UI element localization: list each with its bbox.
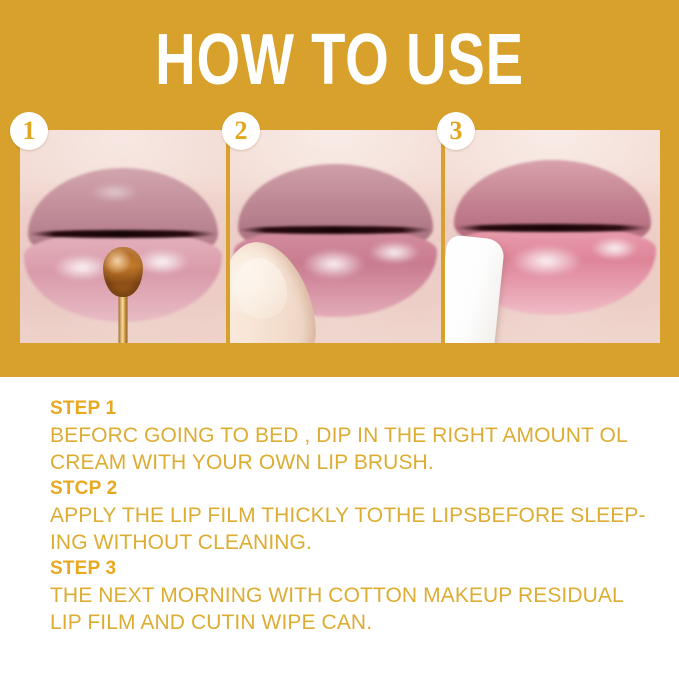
step-badge-3: 3 — [437, 112, 475, 150]
mouth-line-3 — [454, 224, 652, 232]
applicator-handle-icon — [119, 294, 128, 343]
lip-gloss-highlight-right-3 — [591, 237, 638, 260]
lip-gloss-highlight-left-3 — [510, 245, 583, 277]
step-body-3: THE NEXT MORNING WITH COTTON MAKEUP RESI… — [50, 582, 650, 636]
page-title: HOW TO USE — [75, 22, 605, 98]
lip-gloss-highlight-right-1 — [135, 249, 189, 275]
step-body-2: APPLY THE LIP FILM THICKLY TOTHE LIPSBEF… — [50, 502, 650, 556]
mouth-line-2 — [238, 226, 432, 234]
step-body-1: BEFORC GOING TO BED , DIP IN THE RIGHT A… — [50, 422, 650, 476]
instruction-list: STEP 1 BEFORC GOING TO BED , DIP IN THE … — [50, 396, 650, 636]
lip-gloss-highlight-right-2 — [369, 241, 420, 264]
lip-gloss-highlight-left-2 — [302, 249, 365, 279]
instruction-item-1: STEP 1 BEFORC GOING TO BED , DIP IN THE … — [50, 396, 650, 476]
instruction-image-strip — [20, 130, 660, 343]
header-banner: HOW TO USE — [0, 0, 679, 377]
step-heading-3: STEP 3 — [50, 556, 650, 582]
step-image-3 — [441, 130, 660, 343]
step-badge-1: 1 — [10, 112, 48, 150]
step-badge-2: 2 — [222, 112, 260, 150]
cotton-pad-icon — [441, 234, 505, 343]
step-heading-2: STCP 2 — [50, 476, 650, 502]
step-image-1 — [20, 130, 226, 343]
step-image-2 — [226, 130, 441, 343]
step-heading-1: STEP 1 — [50, 396, 650, 422]
lip-gloss-highlight-left-1 — [53, 254, 111, 282]
fingernail-icon — [228, 252, 293, 323]
instruction-item-3: STEP 3 THE NEXT MORNING WITH COTTON MAKE… — [50, 556, 650, 636]
instruction-item-2: STCP 2 APPLY THE LIP FILM THICKLY TOTHE … — [50, 476, 650, 556]
